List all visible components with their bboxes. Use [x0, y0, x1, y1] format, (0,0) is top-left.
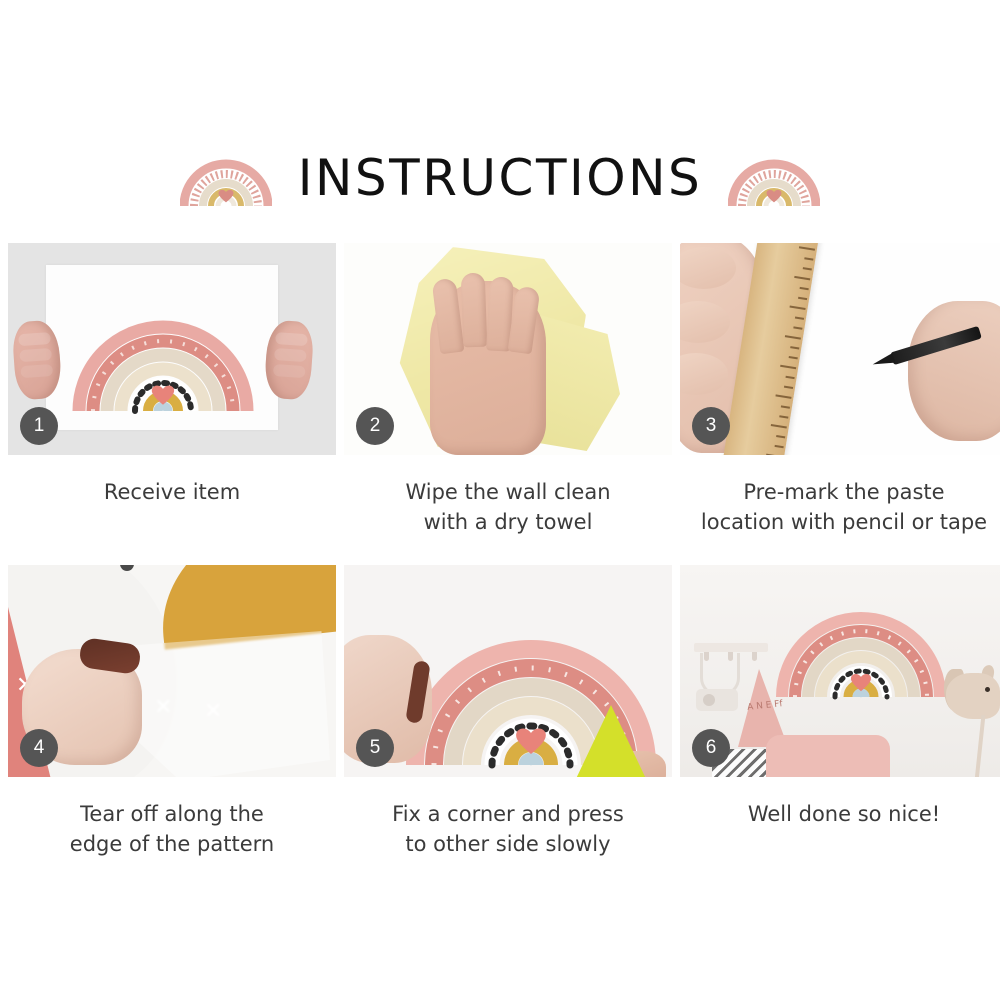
step-2-photo: 2	[344, 243, 672, 455]
step-badge-1: 1	[20, 407, 58, 445]
knuckle	[680, 301, 730, 343]
step-4: ✕ ✕ ✕ ✕ ✕ 4 Tear off alo	[8, 543, 336, 865]
knuckle	[680, 353, 728, 395]
rainbow-icon-right	[728, 148, 820, 208]
step-3-caption: Pre-mark the paste location with pencil …	[680, 477, 1000, 543]
step-5: 5 Fix a corner and press to other side s…	[344, 543, 672, 865]
hand-holding-pen	[908, 301, 1000, 441]
caption-line: Well done so nice!	[684, 799, 1000, 829]
caption-line: Tear off along the	[12, 799, 332, 829]
knuckle	[680, 247, 736, 289]
step-3: 3 Pre-mark the paste location with penci…	[680, 243, 1000, 543]
caption-line: Receive item	[12, 477, 332, 507]
step-badge-2: 2	[356, 407, 394, 445]
caption-line: to other side slowly	[348, 829, 668, 859]
step-2-caption: Wipe the wall clean with a dry towel	[344, 477, 672, 543]
page-title: INSTRUCTIONS	[298, 153, 702, 203]
caption-line: with a dry towel	[348, 507, 668, 537]
horse-eye	[985, 687, 990, 692]
caption-line: edge of the pattern	[12, 829, 332, 859]
hobby-horse-head	[946, 673, 1000, 719]
step-5-photo: 5	[344, 565, 672, 777]
step-6: A N E Ff 6 Well done so nice!	[680, 543, 1000, 865]
caption-line: Wipe the wall clean	[348, 477, 668, 507]
step-1-caption: Receive item	[8, 477, 336, 543]
camera	[696, 689, 738, 711]
step-6-photo: A N E Ff 6	[680, 565, 1000, 777]
coat-rack	[694, 643, 768, 652]
step-5-caption: Fix a corner and press to other side slo…	[344, 799, 672, 865]
caption-line: Pre-mark the paste	[684, 477, 1000, 507]
step-badge-5: 5	[356, 729, 394, 767]
step-3-photo: 3	[680, 243, 1000, 455]
finger	[461, 273, 488, 348]
step-4-photo: ✕ ✕ ✕ ✕ ✕ 4	[8, 565, 336, 777]
step-badge-6: 6	[692, 729, 730, 767]
rainbow-illustration	[72, 289, 254, 415]
step-badge-4: 4	[20, 729, 58, 767]
page-header: INSTRUCTIONS	[0, 132, 1000, 224]
step-badge-3: 3	[692, 407, 730, 445]
step-1-photo: 1	[8, 243, 336, 455]
step-4-caption: Tear off along the edge of the pattern	[8, 799, 336, 865]
rainbow-icon-left	[180, 148, 272, 208]
caption-line: Fix a corner and press	[348, 799, 668, 829]
step-2: 2 Wipe the wall clean with a dry towel	[344, 243, 672, 543]
instruction-steps-grid: 1 Receive item 2 Wipe the wall clean wit…	[8, 243, 1000, 865]
step-6-caption: Well done so nice!	[680, 799, 1000, 865]
rainbow-illustration	[776, 585, 946, 701]
pink-pillow	[766, 735, 890, 777]
step-1: 1 Receive item	[8, 243, 336, 543]
caption-line: location with pencil or tape	[684, 507, 1000, 537]
